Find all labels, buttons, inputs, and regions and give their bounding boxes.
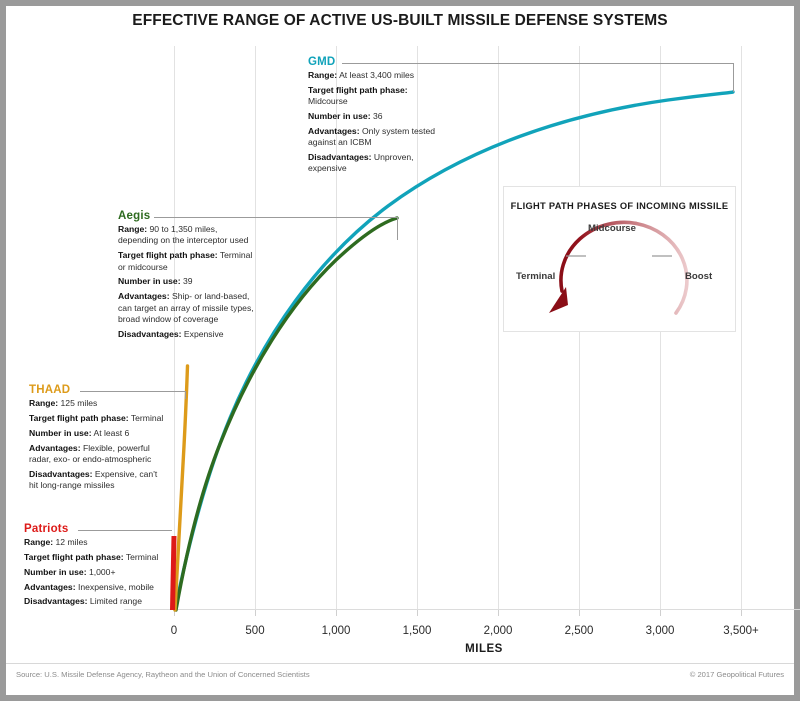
value-number: At least 6 (93, 428, 129, 438)
annotation-aegis-number: Number in use: 39 (118, 276, 258, 287)
label-range: Range: (118, 224, 147, 234)
flight-path-label-terminal: Terminal (516, 271, 555, 282)
annotation-gmd-disadvantages: Disadvantages: Unproven, expensive (308, 152, 448, 175)
annotation-thaad-disadvantages: Disadvantages: Expensive, can't hit long… (29, 469, 165, 492)
x-tick-3500 (741, 610, 742, 616)
label-phase: Target flight path phase: (118, 250, 218, 260)
annotation-gmd-range: Range: At least 3,400 miles (308, 70, 448, 81)
value-number: 36 (373, 111, 383, 121)
x-tick-1500 (417, 610, 418, 616)
annotation-patriots-range: Range: 12 miles (24, 537, 164, 548)
value-disadvantages: Limited range (90, 596, 142, 606)
infographic-frame: EFFECTIVE RANGE OF ACTIVE US-BUILT MISSI… (6, 6, 794, 695)
x-tick-label-500: 500 (245, 625, 264, 637)
x-tick-label-1000: 1,000 (322, 625, 351, 637)
annotation-gmd: GMD Range: At least 3,400 miles Target f… (308, 56, 448, 178)
x-tick-2000 (498, 610, 499, 616)
label-advantages: Advantages: (24, 582, 76, 592)
curve-gmd (175, 92, 733, 610)
flight-path-arc (561, 222, 687, 313)
copyright-text: © 2017 Geopolitical Futures (690, 670, 784, 679)
x-tick-label-2500: 2,500 (565, 625, 594, 637)
leader-line-gmd-vertical (733, 63, 734, 92)
annotation-aegis-advantages: Advantages: Ship- or land-based, can tar… (118, 291, 258, 325)
annotation-aegis-phase: Target flight path phase: Terminal or mi… (118, 250, 258, 273)
annotation-gmd-number: Number in use: 36 (308, 111, 448, 122)
value-range: 12 miles (56, 537, 88, 547)
value-range: 125 miles (61, 398, 98, 408)
label-range: Range: (24, 537, 53, 547)
x-tick-3000 (660, 610, 661, 616)
value-disadvantages: Expensive (184, 329, 224, 339)
label-phase: Target flight path phase: (308, 85, 408, 95)
value-number: 1,000+ (89, 567, 116, 577)
flight-path-legend-title: FLIGHT PATH PHASES OF INCOMING MISSILE (504, 201, 735, 211)
label-advantages: Advantages: (308, 126, 360, 136)
label-disadvantages: Disadvantages: (308, 152, 372, 162)
annotation-aegis-title: Aegis (118, 210, 258, 222)
label-advantages: Advantages: (118, 291, 170, 301)
flight-path-label-boost: Boost (685, 271, 712, 282)
annotation-patriots-phase: Target flight path phase: Terminal (24, 552, 164, 563)
label-advantages: Advantages: (29, 443, 81, 453)
annotation-aegis: Aegis Range: 90 to 1,350 miles, dependin… (118, 210, 258, 344)
value-phase: Terminal (126, 552, 158, 562)
annotation-aegis-disadvantages: Disadvantages: Expensive (118, 329, 258, 340)
flight-path-arrowhead (549, 287, 568, 313)
x-tick-label-0: 0 (171, 625, 177, 637)
value-range: At least 3,400 miles (339, 70, 414, 80)
value-number: 39 (183, 276, 193, 286)
label-number: Number in use: (29, 428, 92, 438)
leader-line-thaad-vertical (185, 391, 186, 399)
x-tick-label-1500: 1,500 (403, 625, 432, 637)
label-disadvantages: Disadvantages: (29, 469, 93, 479)
annotation-patriots-number: Number in use: 1,000+ (24, 567, 164, 578)
annotation-gmd-title: GMD (308, 56, 448, 68)
value-phase: Midcourse (308, 96, 348, 106)
label-number: Number in use: (308, 111, 371, 121)
label-phase: Target flight path phase: (24, 552, 124, 562)
flight-path-legend: FLIGHT PATH PHASES OF INCOMING MISSILE M… (503, 186, 736, 332)
annotation-thaad: THAAD Range: 125 miles Target flight pat… (29, 384, 165, 495)
value-phase: Terminal (131, 413, 163, 423)
curve-patriots (173, 536, 175, 610)
x-tick-label-3500: 3,500+ (723, 625, 759, 637)
label-disadvantages: Disadvantages: (118, 329, 182, 339)
source-text: Source: U.S. Missile Defense Agency, Ray… (16, 670, 310, 679)
page-title: EFFECTIVE RANGE OF ACTIVE US-BUILT MISSI… (6, 12, 794, 30)
label-range: Range: (308, 70, 337, 80)
annotation-patriots-disadvantages: Disadvantages: Limited range (24, 596, 164, 607)
label-disadvantages: Disadvantages: (24, 596, 88, 606)
x-tick-label-3000: 3,000 (646, 625, 675, 637)
x-tick-2500 (579, 610, 580, 616)
annotation-thaad-advantages: Advantages: Flexible, powerful radar, ex… (29, 443, 165, 466)
annotation-thaad-phase: Target flight path phase: Terminal (29, 413, 165, 424)
annotation-thaad-number: Number in use: At least 6 (29, 428, 165, 439)
x-tick-label-2000: 2,000 (484, 625, 513, 637)
annotation-patriots: Patriots Range: 12 miles Target flight p… (24, 523, 164, 611)
annotation-gmd-advantages: Advantages: Only system tested against a… (308, 126, 448, 149)
annotation-thaad-range: Range: 125 miles (29, 398, 165, 409)
annotation-patriots-title: Patriots (24, 523, 164, 535)
label-range: Range: (29, 398, 58, 408)
x-tick-500 (255, 610, 256, 616)
flight-path-label-midcourse: Midcourse (588, 223, 636, 234)
x-tick-1000 (336, 610, 337, 616)
label-phase: Target flight path phase: (29, 413, 129, 423)
value-advantages: Inexpensive, mobile (78, 582, 154, 592)
annotation-gmd-phase: Target flight path phase: Midcourse (308, 85, 448, 108)
leader-line-aegis-vertical (397, 217, 398, 240)
annotation-thaad-title: THAAD (29, 384, 165, 396)
label-number: Number in use: (118, 276, 181, 286)
footer-divider (6, 663, 794, 664)
annotation-aegis-range: Range: 90 to 1,350 miles, depending on t… (118, 224, 258, 247)
x-axis-title: MILES (168, 643, 800, 655)
label-number: Number in use: (24, 567, 87, 577)
annotation-patriots-advantages: Advantages: Inexpensive, mobile (24, 582, 164, 593)
